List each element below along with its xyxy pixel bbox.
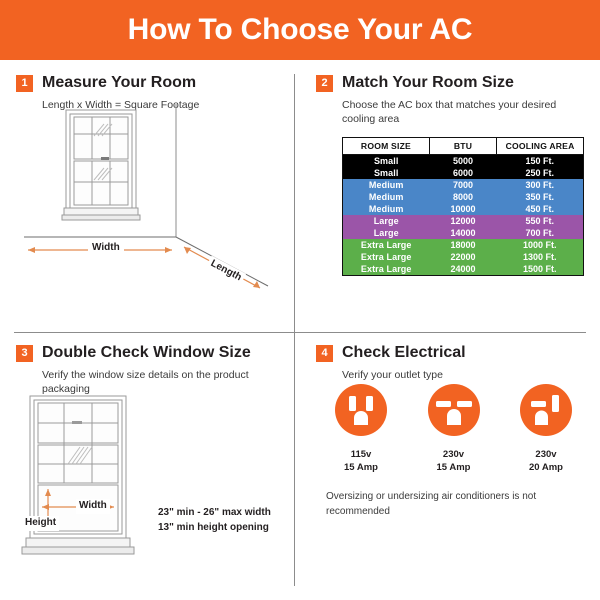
cell-btu: 6000 (429, 167, 496, 179)
page-header: How To Choose Your AC (0, 0, 600, 60)
cell-btu: 10000 (429, 203, 496, 215)
infographic-page: How To Choose Your AC 1 Measure Your Roo… (0, 0, 600, 600)
panel-grid: 1 Measure Your Room Length x Width = Squ… (0, 60, 600, 600)
step-badge-3: 3 (16, 345, 33, 362)
cell-btu: 8000 (429, 191, 496, 203)
cell-room-size: Medium (343, 179, 429, 191)
table-row: Medium8000350 Ft. (343, 191, 583, 203)
panel-measure-your-room: 1 Measure Your Room Length x Width = Squ… (0, 60, 300, 330)
cell-cooling-area: 450 Ft. (497, 203, 583, 215)
panel-3-heading: 3 Double Check Window Size (16, 344, 284, 362)
step-badge-1: 1 (16, 75, 33, 92)
table-row: Small6000250 Ft. (343, 167, 583, 179)
panel-2-subtitle: Choose the AC box that matches your desi… (342, 99, 584, 127)
cell-room-size: Extra Large (343, 263, 429, 275)
table-header-row: ROOM SIZE BTU COOLING AREA (343, 138, 583, 155)
cell-btu: 24000 (429, 263, 496, 275)
outlet-voltage: 230v (419, 449, 489, 462)
panel-4-subtitle: Verify your outlet type (342, 369, 584, 383)
outlet-voltage: 115v (326, 449, 396, 462)
outlet-voltage: 230v (511, 449, 581, 462)
window-height-label: Height (22, 516, 59, 531)
cell-cooling-area: 1300 Ft. (497, 251, 583, 263)
cell-cooling-area: 250 Ft. (497, 167, 583, 179)
window-illustration (62, 110, 140, 220)
cell-room-size: Extra Large (343, 239, 429, 251)
outlet-type-list: 115v 15 Amp 230v 15 Amp (326, 382, 581, 475)
cell-cooling-area: 300 Ft. (497, 179, 583, 191)
electrical-disclaimer: Oversizing or undersizing air conditione… (326, 490, 576, 519)
window-note-height: 13" min height opening (158, 521, 269, 536)
panel-double-check-window-size: 3 Double Check Window Size Verify the wi… (0, 330, 300, 600)
panel-2-title: Match Your Room Size (342, 74, 514, 92)
window-width-label: Width (76, 499, 110, 514)
outlet-amperage: 15 Amp (419, 462, 489, 475)
window-latch (72, 421, 82, 424)
cell-btu: 5000 (429, 154, 496, 167)
step-badge-2: 2 (316, 75, 333, 92)
panel-1-heading: 1 Measure Your Room (16, 74, 284, 92)
table-row: Extra Large180001000 Ft. (343, 239, 583, 251)
outlet-amperage: 15 Amp (326, 462, 396, 475)
panel-2-heading: 2 Match Your Room Size (316, 74, 584, 92)
table-row: Small5000150 Ft. (343, 154, 583, 167)
column-header-btu: BTU (429, 138, 496, 155)
outlet-115v-15amp-caption: 115v 15 Amp (326, 449, 396, 475)
panel-4-title: Check Electrical (342, 344, 466, 362)
outlet-option-230v-20amp: 230v 20 Amp (511, 382, 581, 475)
cell-cooling-area: 700 Ft. (497, 227, 583, 239)
panel-1-title: Measure Your Room (42, 74, 196, 92)
cell-cooling-area: 150 Ft. (497, 154, 583, 167)
width-label: Width (88, 241, 124, 256)
table-row: Extra Large240001500 Ft. (343, 263, 583, 275)
table-row: Extra Large220001300 Ft. (343, 251, 583, 263)
cell-room-size: Small (343, 167, 429, 179)
cell-room-size: Small (343, 154, 429, 167)
step-badge-4: 4 (316, 345, 333, 362)
outlet-115v-15amp-icon (333, 382, 389, 438)
panel-check-electrical: 4 Check Electrical Verify your outlet ty… (300, 330, 600, 600)
table-row: Medium10000450 Ft. (343, 203, 583, 215)
cell-btu: 22000 (429, 251, 496, 263)
cell-cooling-area: 1000 Ft. (497, 239, 583, 251)
panel-4-heading: 4 Check Electrical (316, 344, 584, 362)
btu-sizing-table: ROOM SIZE BTU COOLING AREA Small5000150 … (342, 137, 584, 276)
cell-btu: 7000 (429, 179, 496, 191)
cell-btu: 18000 (429, 239, 496, 251)
table-row: Medium7000300 Ft. (343, 179, 583, 191)
cell-room-size: Medium (343, 191, 429, 203)
outlet-230v-20amp-caption: 230v 20 Amp (511, 449, 581, 475)
window-size-diagram (16, 392, 156, 567)
page-title: How To Choose Your AC (128, 13, 473, 47)
room-corner-diagram (16, 104, 290, 289)
cell-btu: 12000 (429, 215, 496, 227)
table-body: Small5000150 Ft.Small6000250 Ft.Medium70… (343, 154, 583, 275)
outlet-option-115v-15amp: 115v 15 Amp (326, 382, 396, 475)
window-note-width: 23" min - 26" max width (158, 506, 271, 521)
table-row: Large12000550 Ft. (343, 215, 583, 227)
outlet-230v-20amp-icon (518, 382, 574, 438)
column-header-cooling-area: COOLING AREA (497, 138, 583, 155)
cell-cooling-area: 1500 Ft. (497, 263, 583, 275)
cell-room-size: Large (343, 227, 429, 239)
cell-room-size: Medium (343, 203, 429, 215)
outlet-230v-15amp-icon (426, 382, 482, 438)
cell-cooling-area: 350 Ft. (497, 191, 583, 203)
outlet-option-230v-15amp: 230v 15 Amp (419, 382, 489, 475)
outlet-230v-15amp-caption: 230v 15 Amp (419, 449, 489, 475)
column-header-room-size: ROOM SIZE (343, 138, 429, 155)
cell-room-size: Extra Large (343, 251, 429, 263)
cell-cooling-area: 550 Ft. (497, 215, 583, 227)
outlet-amperage: 20 Amp (511, 462, 581, 475)
cell-btu: 14000 (429, 227, 496, 239)
cell-room-size: Large (343, 215, 429, 227)
panel-3-title: Double Check Window Size (42, 344, 251, 362)
window-latch (101, 157, 109, 160)
panel-match-your-room-size: 2 Match Your Room Size Choose the AC box… (300, 60, 600, 330)
table-row: Large14000700 Ft. (343, 227, 583, 239)
